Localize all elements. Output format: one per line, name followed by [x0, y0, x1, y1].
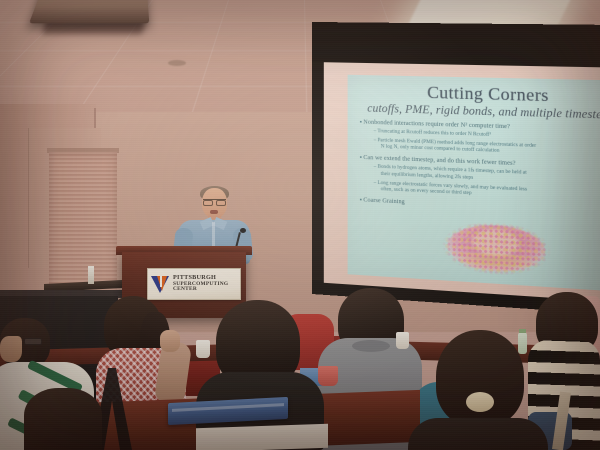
window-blind: [49, 152, 117, 292]
sprinkler-head-icon: [168, 60, 186, 66]
shelf-item: [88, 266, 94, 284]
molecule-beads: [441, 219, 551, 279]
venue-sign-line-3: CENTER: [173, 287, 228, 293]
hair-scrunchie: [466, 392, 494, 412]
white-notepaper: [196, 424, 328, 450]
microphone-icon: [240, 228, 246, 233]
audience-member-head-foreground: [24, 388, 102, 450]
paper-cup: [196, 340, 210, 358]
venue-sign-text: PITTSBURGH SUPERCOMPUTING CENTER: [173, 275, 228, 292]
projection-screen: Cutting Corners cutoffs, PME, rigid bond…: [312, 22, 600, 315]
audience-member-face: [0, 336, 22, 362]
audience-member-hand: [160, 330, 180, 352]
presenter-mouth: [210, 210, 218, 214]
red-cup: [318, 366, 338, 386]
lecture-hall-photo: Cutting Corners cutoffs, PME, rigid bond…: [0, 0, 600, 450]
eyeglasses-icon: [203, 199, 226, 204]
screen-surface: Cutting Corners cutoffs, PME, rigid bond…: [324, 62, 600, 302]
eyeglasses-icon: [24, 338, 42, 345]
logo-orange-shape: [157, 276, 167, 291]
logo-white-notch: [160, 276, 162, 287]
ceiling-projector: [29, 0, 149, 23]
water-bottle: [518, 332, 527, 354]
slide-sub-bullet-text: Truncating at Rcutoff reduces this to or…: [377, 128, 491, 138]
psc-logo: [151, 276, 170, 293]
venue-sign: PITTSBURGH SUPERCOMPUTING CENTER: [147, 268, 241, 300]
coarse-grained-protein-ring-figure: [441, 219, 551, 279]
presentation-slide: Cutting Corners cutoffs, PME, rigid bond…: [348, 75, 600, 293]
audience-member-collar: [352, 340, 390, 352]
paper-cup: [396, 332, 409, 349]
water-bottle-cap: [519, 329, 526, 333]
audience-member-ponytail-scrunchie: [408, 418, 548, 450]
